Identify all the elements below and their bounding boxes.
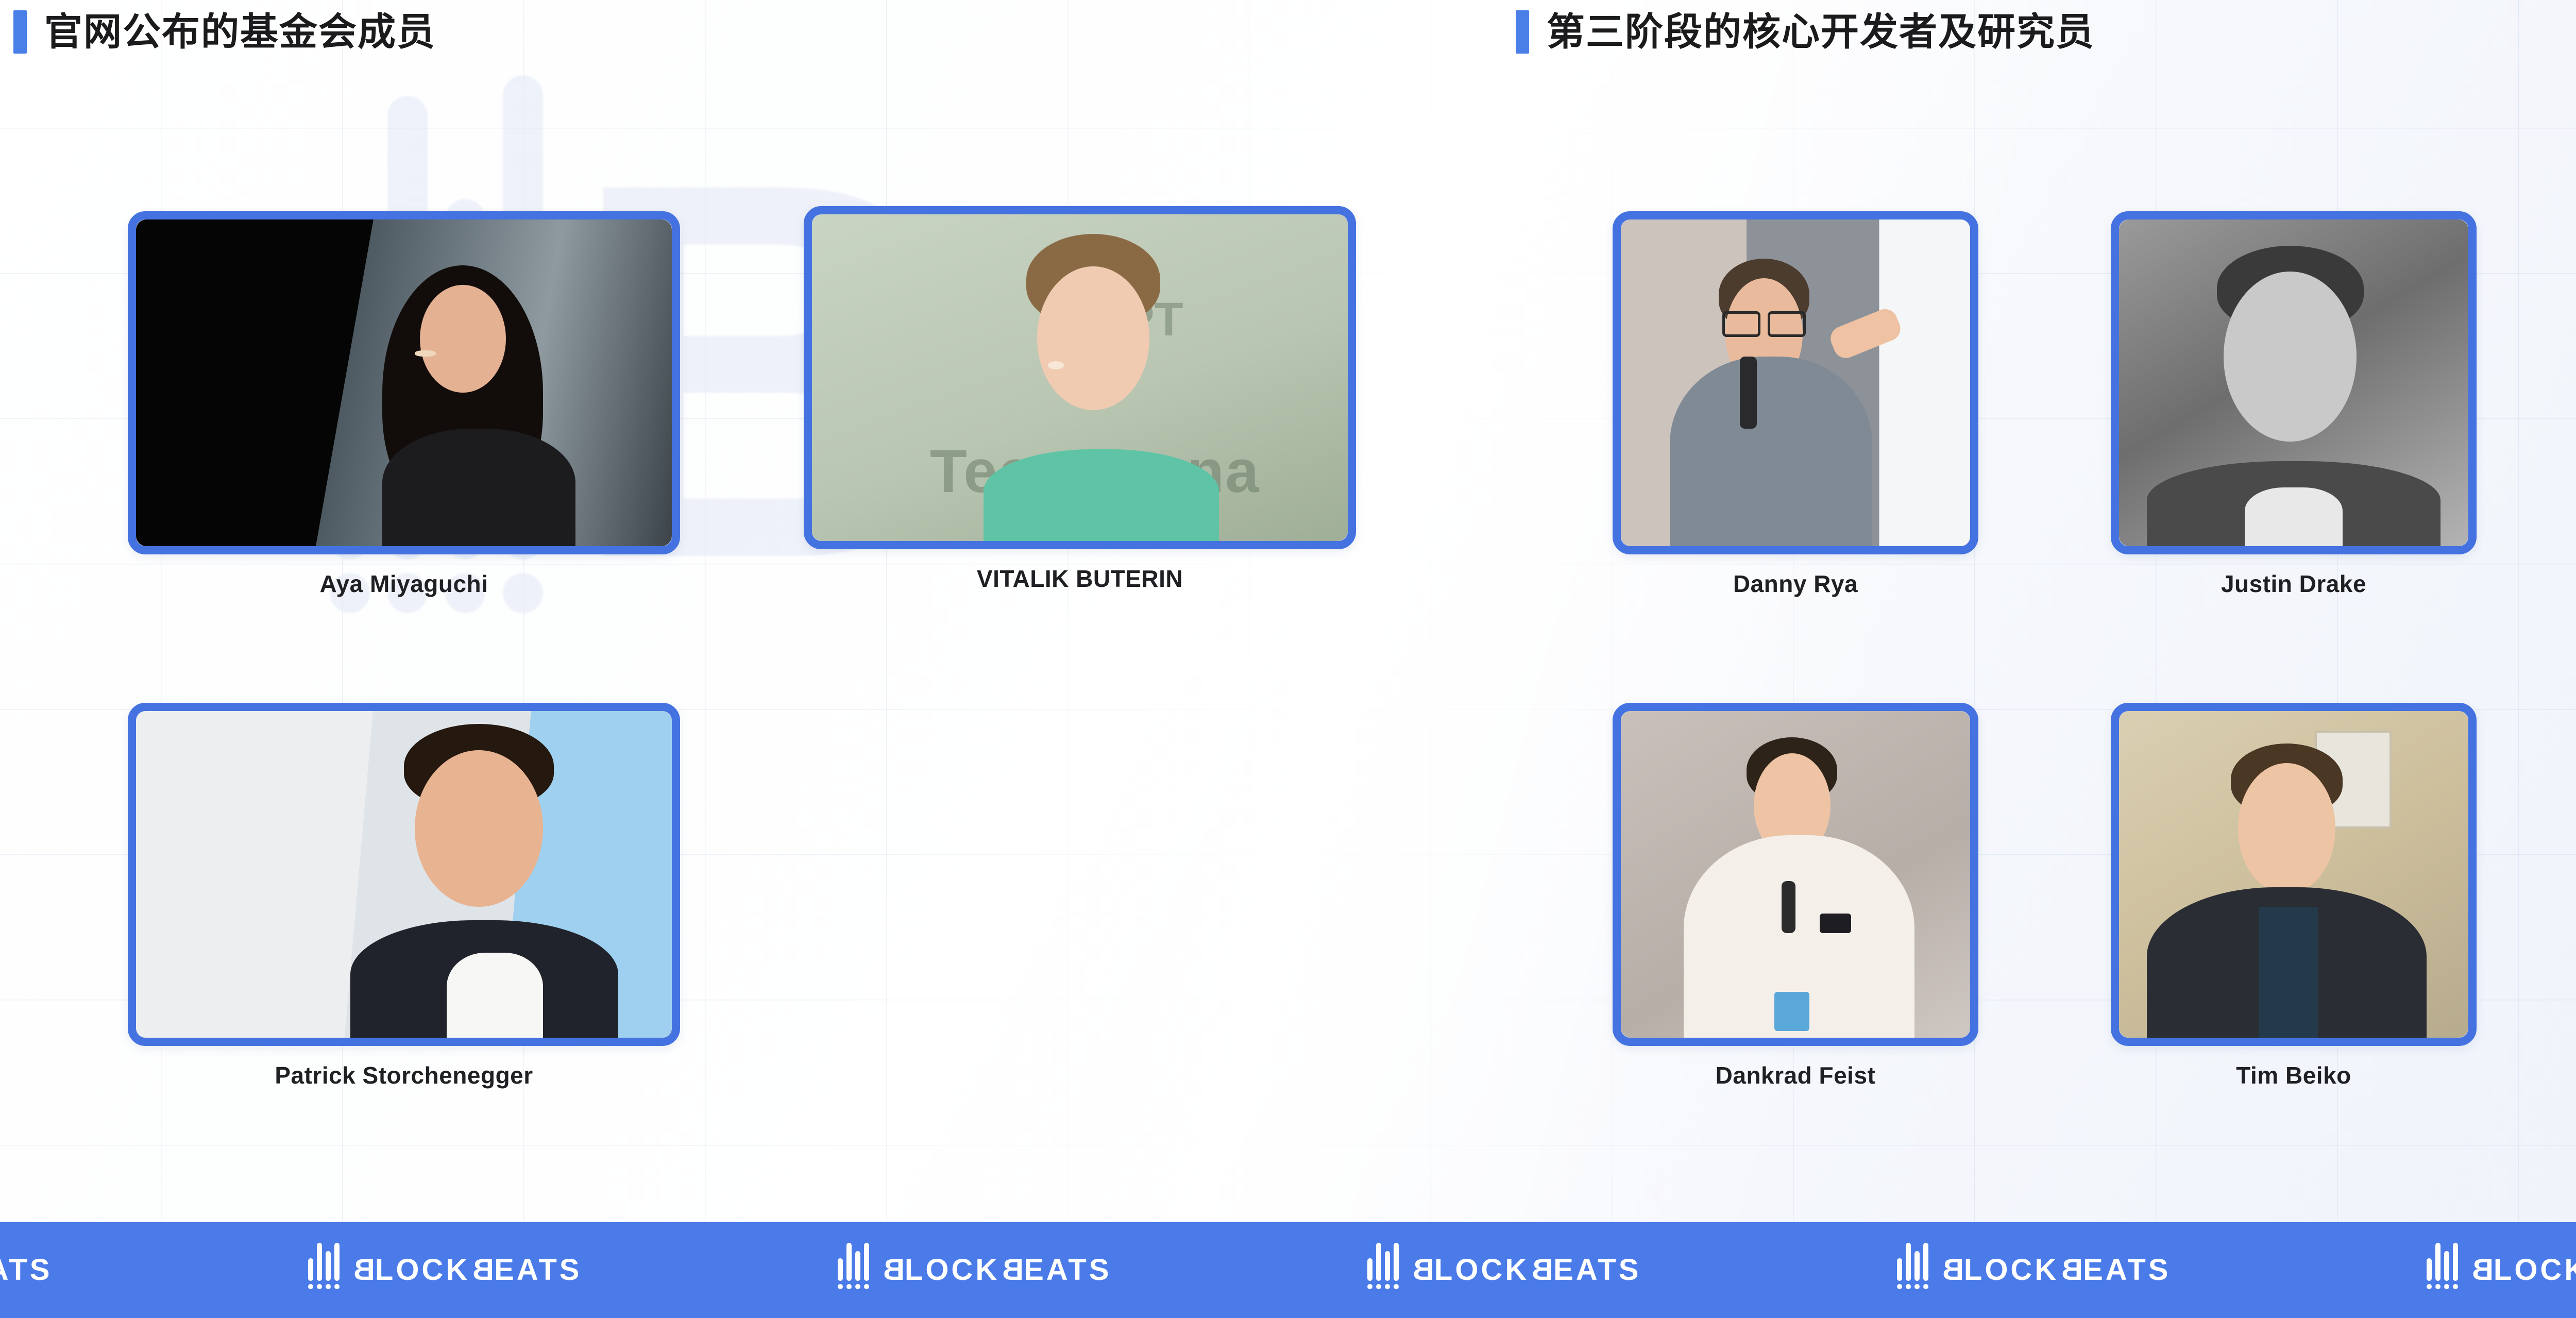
member-card-patrick-storchenegger[interactable]: Patrick Storchenegger <box>128 703 680 1089</box>
page-background: B <box>0 0 2576 1318</box>
blockbeats-waveform-icon <box>2427 1251 2458 1289</box>
title-accent-bar-left <box>13 10 27 54</box>
vitalik-buterin-photo: Tec runana PT <box>812 214 1348 541</box>
footer-brand-item: BLOCKBEATS <box>0 1251 308 1289</box>
photo-frame <box>1613 211 1978 554</box>
blockbeats-waveform-icon <box>308 1251 340 1289</box>
photo-frame <box>2111 211 2477 554</box>
member-card-aya-miyaguchi[interactable]: Aya Miyaguchi <box>128 211 680 598</box>
justin-drake-photo <box>2119 219 2468 546</box>
danny-rya-photo <box>1621 219 1970 546</box>
footer-brand-name: BLOCKBEATS <box>2469 1255 2576 1285</box>
panel-title-core-devs: 第三阶段的核心开发者及研究员 <box>1516 10 2095 54</box>
photo-frame <box>128 703 680 1046</box>
member-name: Justin Drake <box>2221 570 2366 598</box>
photo-frame <box>1613 703 1978 1046</box>
title-accent-bar-right <box>1516 10 1529 54</box>
member-name: Tim Beiko <box>2236 1061 2351 1089</box>
member-name: VITALIK BUTERIN <box>977 565 1183 593</box>
footer-brand-strip: BLOCKBEATSBLOCKBEATSBLOCKBEATSBLOCKBEATS… <box>0 1222 2576 1318</box>
blockbeats-waveform-icon <box>1367 1251 1399 1289</box>
tim-beiko-photo <box>2119 711 2468 1038</box>
footer-brand-item: BLOCKBEATS <box>1367 1251 1897 1289</box>
member-card-tim-beiko[interactable]: Tim Beiko <box>2111 703 2477 1089</box>
photo-frame <box>2111 703 2477 1046</box>
footer-brand-name: BLOCKBEATS <box>880 1255 1112 1285</box>
footer-brand-name: BLOCKBEATS <box>1410 1255 1641 1285</box>
member-card-dankrad-feist[interactable]: Dankrad Feist <box>1613 703 1978 1089</box>
member-card-danny-rya[interactable]: Danny Rya <box>1613 211 1978 598</box>
footer-brand-item: BLOCKBEATS <box>308 1251 838 1289</box>
footer-brand-item: BLOCKBEATS <box>838 1251 1367 1289</box>
member-name: Dankrad Feist <box>1716 1061 1876 1089</box>
footer-brand-item: BLOCKBEATS <box>2427 1251 2576 1289</box>
footer-brand-name: BLOCKBEATS <box>351 1255 582 1285</box>
dankrad-feist-photo <box>1621 711 1970 1038</box>
member-card-justin-drake[interactable]: Justin Drake <box>2111 211 2477 598</box>
panel-title-text-foundation: 官网公布的基金会成员 <box>44 13 436 51</box>
photo-frame <box>128 211 680 554</box>
footer-brand-item: BLOCKBEATS <box>1897 1251 2427 1289</box>
member-name: Patrick Storchenegger <box>275 1061 533 1089</box>
panel-title-foundation: 官网公布的基金会成员 <box>13 10 436 54</box>
aya-miyaguchi-photo <box>136 219 672 546</box>
blockbeats-waveform-icon <box>1897 1251 1928 1289</box>
member-name: Danny Rya <box>1733 570 1858 598</box>
photo-frame: Tec runana PT <box>804 206 1356 549</box>
panel-title-text-core-devs: 第三阶段的核心开发者及研究员 <box>1547 13 2095 51</box>
member-name: Aya Miyaguchi <box>320 570 488 598</box>
member-card-vitalik-buterin[interactable]: Tec runana PT VITALIK BUTERIN <box>804 206 1356 593</box>
blockbeats-waveform-icon <box>838 1251 869 1289</box>
footer-brand-name: BLOCKBEATS <box>1940 1255 2171 1285</box>
patrick-storchenegger-photo <box>136 711 672 1038</box>
footer-brand-name: BLOCKBEATS <box>0 1255 53 1285</box>
